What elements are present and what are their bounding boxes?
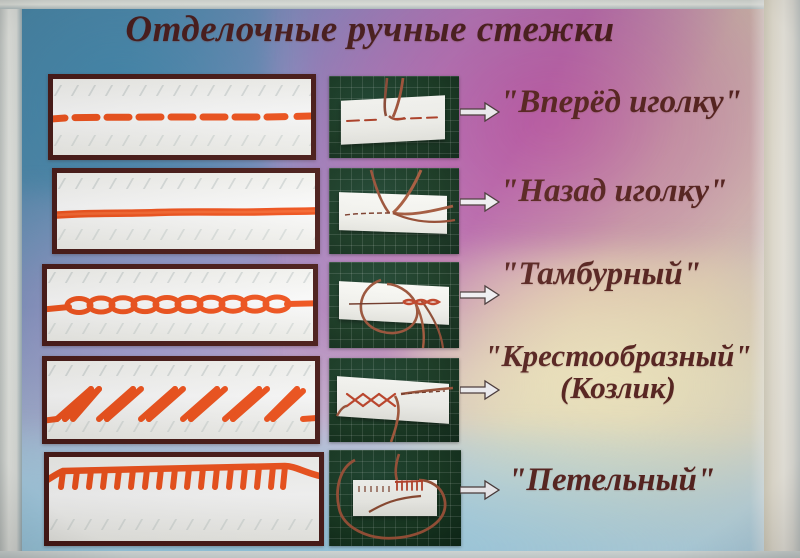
sample-cloth (47, 361, 315, 439)
blanket-stitch-thread (49, 457, 319, 541)
photo-sheet-bottom-edge (0, 551, 800, 558)
sample-cloth (49, 457, 319, 541)
cross-stitch-sample (42, 356, 320, 444)
label-running-stitch: "Вперёд иголку" (500, 84, 742, 121)
running-stitch-thread (53, 79, 311, 155)
label-cross-stitch-line1: "Крестообразный" (484, 338, 751, 373)
running-stitch-photo (329, 76, 459, 158)
chain-stitch-photo (329, 262, 459, 348)
running-stitch-sample (48, 74, 316, 160)
poster: Отделочные ручные стежки (0, 0, 800, 558)
photo-thread (329, 450, 461, 546)
blanket-stitch-photo (329, 450, 461, 546)
arrow-chain-stitch (460, 283, 500, 307)
label-back-stitch: "Назад иголку" (500, 173, 727, 210)
label-cross-stitch-line2: (Козлик) (560, 370, 676, 405)
photo-sheet-right-edge (764, 0, 800, 558)
chain-stitch-thread (47, 269, 313, 341)
arrow-back-stitch (460, 190, 500, 214)
back-stitch-sample (52, 168, 320, 254)
label-chain-stitch: "Тамбурный" (500, 256, 701, 293)
photo-sheet-left-edge (0, 0, 22, 558)
photo-thread (329, 76, 459, 158)
photo-thread (329, 168, 459, 254)
cross-stitch-thread (47, 361, 315, 439)
page-title: Отделочные ручные стежки (0, 8, 740, 51)
sample-cloth (53, 79, 311, 155)
sample-cloth (47, 269, 313, 341)
sample-cloth (57, 173, 315, 249)
photo-thread (329, 358, 459, 442)
back-stitch-thread (57, 173, 315, 249)
blanket-stitch-sample (44, 452, 324, 546)
chain-stitch-sample (42, 264, 318, 346)
arrow-blanket-stitch (460, 478, 500, 502)
photo-sheet-right-highlight (750, 0, 764, 558)
label-blanket-stitch: "Петельный" (508, 462, 715, 499)
back-stitch-photo (329, 168, 459, 254)
label-cross-stitch: "Крестообразный" (Козлик) (468, 340, 768, 403)
photo-thread (329, 262, 459, 348)
arrow-running-stitch (460, 100, 500, 124)
cross-stitch-photo (329, 358, 459, 442)
